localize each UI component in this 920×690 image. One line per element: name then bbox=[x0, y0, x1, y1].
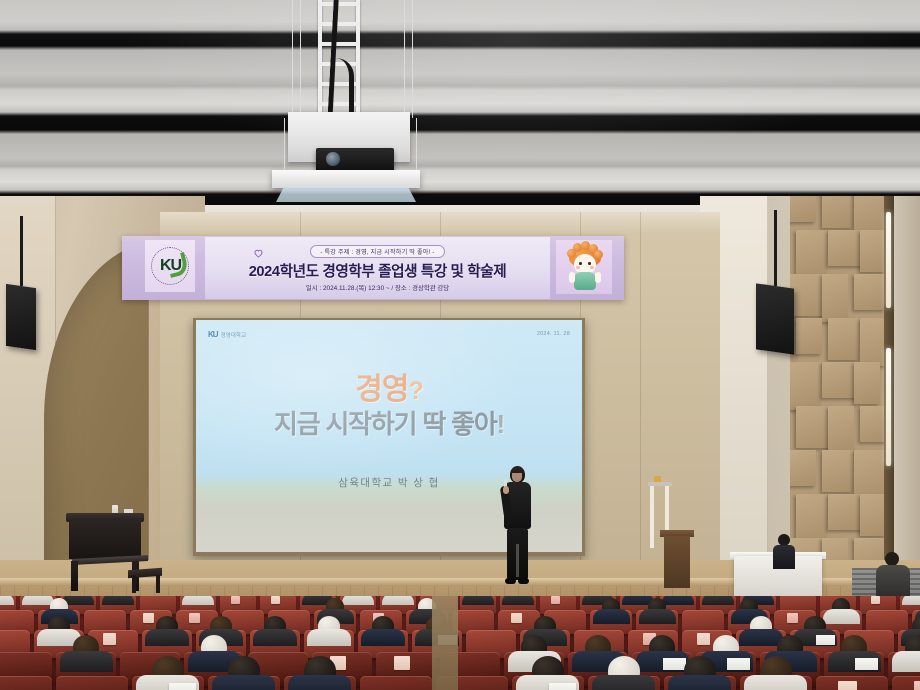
seat-reservation-tag bbox=[231, 596, 240, 604]
bench-leg bbox=[156, 575, 160, 593]
acoustic-block bbox=[822, 450, 853, 492]
projector-suspension-wire bbox=[412, 0, 413, 118]
mascot-character-icon bbox=[556, 240, 612, 294]
hanging-speaker-right bbox=[756, 286, 794, 362]
handout-paper bbox=[816, 635, 835, 645]
seat-reservation-tag bbox=[189, 613, 200, 623]
projector-suspension-wire bbox=[284, 118, 285, 176]
staff-head bbox=[885, 552, 899, 566]
audience-member-shoulders bbox=[902, 596, 920, 605]
seat-reservation-tag bbox=[787, 613, 798, 623]
auditorium-seat[interactable] bbox=[56, 676, 128, 690]
projector-light-cone bbox=[276, 186, 416, 202]
acoustic-block bbox=[828, 230, 864, 266]
seat-reservation-tag bbox=[838, 681, 857, 690]
acoustic-block bbox=[854, 450, 886, 498]
audience-member-shoulders bbox=[288, 675, 351, 690]
bench-leg bbox=[132, 575, 136, 593]
acoustic-block bbox=[796, 230, 827, 278]
acoustic-block bbox=[860, 318, 886, 366]
projector-lens-icon bbox=[326, 152, 340, 166]
acoustic-block bbox=[790, 274, 826, 316]
audience-member-shoulders bbox=[744, 675, 807, 690]
university-seal-logo: KU bbox=[145, 240, 195, 292]
audience-member-shoulders bbox=[342, 596, 374, 605]
audience-seating bbox=[0, 596, 920, 690]
staff-body bbox=[876, 565, 910, 599]
audience-member-shoulders bbox=[253, 629, 297, 646]
handout-paper bbox=[727, 658, 750, 670]
acoustic-block bbox=[790, 450, 816, 486]
hanging-speaker-left bbox=[6, 286, 36, 356]
acoustic-block bbox=[822, 274, 848, 322]
banner-subtitle: - 특강 주제 : 경영, 지금 시작하기 딱 좋아! - bbox=[310, 245, 444, 258]
acoustic-block bbox=[828, 494, 864, 530]
audience-member-shoulders bbox=[662, 596, 694, 605]
technician-body bbox=[773, 545, 795, 569]
seat-reservation-tag bbox=[914, 681, 920, 690]
acoustic-block bbox=[790, 362, 821, 410]
audience-member-shoulders bbox=[0, 596, 14, 605]
upright-piano bbox=[66, 505, 152, 590]
presenter-shoe bbox=[505, 578, 516, 584]
piano-leg bbox=[71, 561, 78, 591]
heart-icon bbox=[252, 246, 265, 258]
auditorium-seat[interactable] bbox=[0, 676, 52, 690]
audience-member-shoulders bbox=[307, 629, 351, 646]
banner-info-line: 일시 : 2024.11.28.(목) 12:30 ~ / 장소 : 경상학관 … bbox=[306, 283, 449, 292]
seat-reservation-tag bbox=[697, 633, 710, 645]
staff-member-right bbox=[876, 552, 910, 598]
projector-base-plate bbox=[272, 170, 420, 188]
seat-reservation-tag bbox=[511, 613, 522, 623]
acoustic-block bbox=[860, 406, 886, 442]
seat-reservation-tag bbox=[551, 596, 560, 604]
acoustic-block bbox=[854, 274, 885, 310]
audience-member-shoulders bbox=[668, 675, 731, 690]
piano-body bbox=[69, 519, 141, 559]
handout-paper bbox=[663, 658, 686, 670]
presenter-on-stage bbox=[500, 466, 534, 588]
handout-paper bbox=[549, 683, 576, 690]
acoustic-block bbox=[790, 196, 816, 222]
audience-member-shoulders bbox=[145, 629, 189, 646]
projector-suspension-wire bbox=[292, 0, 293, 118]
audience-member-shoulders bbox=[592, 675, 655, 690]
wooden-podium bbox=[660, 530, 694, 588]
projector-suspension-wire bbox=[404, 0, 405, 118]
acoustic-block bbox=[828, 318, 859, 360]
presenter-leg-gap bbox=[516, 544, 519, 577]
audience-member-shoulders bbox=[593, 609, 630, 624]
seat-reservation-tag bbox=[394, 656, 410, 670]
podium-body bbox=[664, 536, 690, 588]
lectern-post bbox=[650, 486, 654, 548]
presenter-hand bbox=[503, 486, 509, 494]
presenter-face bbox=[512, 473, 522, 482]
auditorium-seat[interactable] bbox=[360, 676, 432, 690]
seat-reservation-tag bbox=[103, 633, 116, 645]
acoustic-block bbox=[854, 362, 880, 404]
seat-reservation-tag bbox=[143, 613, 154, 623]
acoustic-block bbox=[860, 230, 886, 272]
audience-member-shoulders bbox=[361, 629, 405, 646]
seat-reservation-tag bbox=[871, 596, 880, 604]
audience-member-shoulders bbox=[102, 596, 134, 605]
audience-member-shoulders bbox=[702, 596, 734, 605]
projector-suspension-wire bbox=[300, 0, 301, 118]
audience-member-shoulders bbox=[823, 609, 860, 624]
handout-paper bbox=[169, 683, 196, 690]
audience-member-shoulders bbox=[462, 596, 494, 605]
acoustic-block bbox=[860, 494, 886, 536]
auditorium-scene: KU - 특강 주제 : 경영, 지금 시작하기 딱 좋아! - 2024학년도… bbox=[0, 0, 920, 690]
av-technician bbox=[772, 534, 796, 568]
ceiling-light-sheen bbox=[0, 0, 920, 215]
acoustic-block bbox=[822, 362, 858, 398]
wall-light-strip bbox=[886, 348, 891, 466]
audience-member-shoulders bbox=[639, 609, 676, 624]
seat-reservation-tag bbox=[271, 596, 280, 604]
audience-member-shoulders bbox=[892, 651, 920, 672]
presenter-shoe bbox=[518, 578, 529, 584]
audience-member-shoulders bbox=[60, 651, 113, 672]
acoustic-block bbox=[796, 318, 822, 354]
acoustic-block bbox=[828, 406, 854, 454]
acoustic-block bbox=[854, 196, 886, 234]
handout-paper bbox=[855, 658, 878, 670]
banner-title: 2024학년도 경영학부 졸업생 특강 및 학술제 bbox=[249, 260, 507, 281]
audience-member-shoulders bbox=[182, 596, 214, 605]
acoustic-block bbox=[822, 196, 853, 228]
audience-member-shoulders bbox=[382, 596, 414, 605]
wall-light-strip bbox=[886, 212, 891, 308]
audience-member-shoulders bbox=[212, 675, 275, 690]
seal-logo-mark: KU bbox=[154, 257, 187, 275]
acoustic-wood-panel bbox=[790, 196, 886, 596]
projector-suspension-wire bbox=[416, 118, 417, 176]
center-aisle bbox=[432, 596, 458, 690]
acoustic-block bbox=[796, 494, 827, 542]
acoustic-block bbox=[796, 406, 832, 448]
audience-member-shoulders bbox=[502, 596, 534, 605]
